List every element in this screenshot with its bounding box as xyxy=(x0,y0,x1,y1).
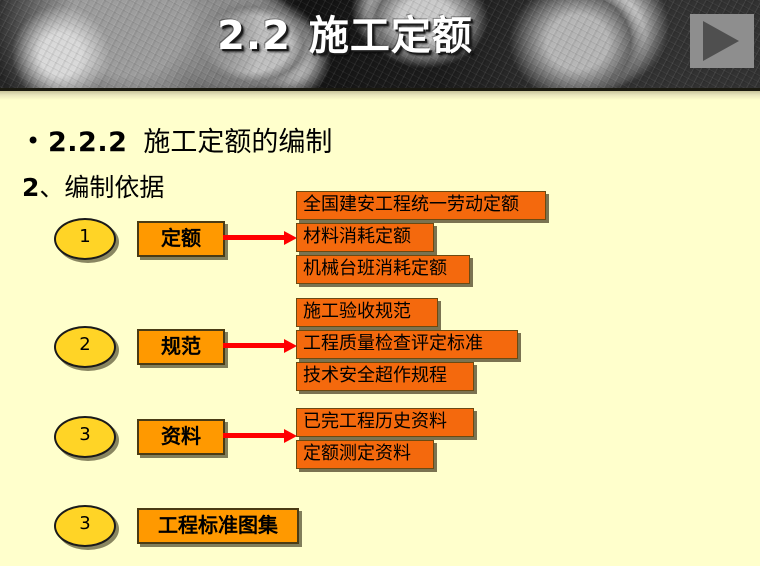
group-number-label: 3 xyxy=(79,513,90,534)
group-item-text: 已完工程历史资料 xyxy=(303,411,447,432)
group-number-label: 1 xyxy=(79,226,90,247)
subsection-number: 2 xyxy=(22,173,39,202)
play-triangle-icon xyxy=(703,21,739,61)
group-item-box[interactable]: 已完工程历史资料 xyxy=(296,408,474,437)
group-arrow-2 xyxy=(223,341,297,350)
group-item-box[interactable]: 施工验收规范 xyxy=(296,298,438,327)
group-item-box[interactable]: 定额测定资料 xyxy=(296,440,434,469)
group-label-text: 规范 xyxy=(161,334,201,358)
group-item-text: 技术安全超作规程 xyxy=(303,365,447,386)
group-item-text: 施工验收规范 xyxy=(303,301,411,322)
subsection-heading: 2、编制依据 xyxy=(22,173,164,203)
group-label-box-4[interactable]: 工程标准图集 xyxy=(137,508,299,544)
group-label-box-2[interactable]: 规范 xyxy=(137,329,225,365)
subsection-text: 、编制依据 xyxy=(39,173,164,202)
group-item-text: 全国建安工程统一劳动定额 xyxy=(303,194,519,215)
group-arrow-3 xyxy=(223,431,297,440)
slide-header: 2.2施工定额 xyxy=(0,0,760,88)
group-item-text: 材料消耗定额 xyxy=(303,226,411,247)
arrow-shaft xyxy=(223,235,285,240)
play-button[interactable] xyxy=(690,14,754,68)
group-item-text: 机械台班消耗定额 xyxy=(303,258,447,279)
group-arrow-1 xyxy=(223,233,297,242)
page-title: 2.2施工定额 xyxy=(0,8,690,64)
group-number-badge-3[interactable]: 3 xyxy=(54,416,116,458)
group-item-box[interactable]: 技术安全超作规程 xyxy=(296,362,474,391)
header-fade-strip xyxy=(0,91,760,100)
page-title-number: 2.2 xyxy=(217,13,291,59)
arrow-shaft xyxy=(223,433,285,438)
section-heading: •2.2.2施工定额的编制 xyxy=(26,124,626,160)
page-title-text: 施工定额 xyxy=(309,13,473,59)
group-item-box[interactable]: 机械台班消耗定额 xyxy=(296,255,470,284)
group-item-box[interactable]: 工程质量检查评定标准 xyxy=(296,330,518,359)
group-item-box[interactable]: 全国建安工程统一劳动定额 xyxy=(296,191,546,220)
group-label-box-3[interactable]: 资料 xyxy=(137,419,225,455)
group-item-text: 工程质量检查评定标准 xyxy=(303,333,483,354)
group-number-label: 2 xyxy=(79,334,90,355)
group-number-label: 3 xyxy=(79,424,90,445)
slide: 2.2施工定额 •2.2.2施工定额的编制 2、编制依据 1 定额 全国建安工程… xyxy=(0,0,760,566)
group-number-badge-2[interactable]: 2 xyxy=(54,326,116,368)
group-item-text: 定额测定资料 xyxy=(303,443,411,464)
arrow-shaft xyxy=(223,343,285,348)
group-item-box[interactable]: 材料消耗定额 xyxy=(296,223,434,252)
group-label-text: 资料 xyxy=(161,424,201,448)
section-heading-code: 2.2.2 xyxy=(48,127,127,158)
group-number-badge-1[interactable]: 1 xyxy=(54,218,116,260)
group-number-badge-4[interactable]: 3 xyxy=(54,505,116,547)
group-label-box-1[interactable]: 定额 xyxy=(137,221,225,257)
group-label-text: 工程标准图集 xyxy=(158,513,278,537)
group-label-text: 定额 xyxy=(161,226,201,250)
bullet-marker: • xyxy=(26,124,48,158)
section-heading-text: 施工定额的编制 xyxy=(143,127,332,158)
